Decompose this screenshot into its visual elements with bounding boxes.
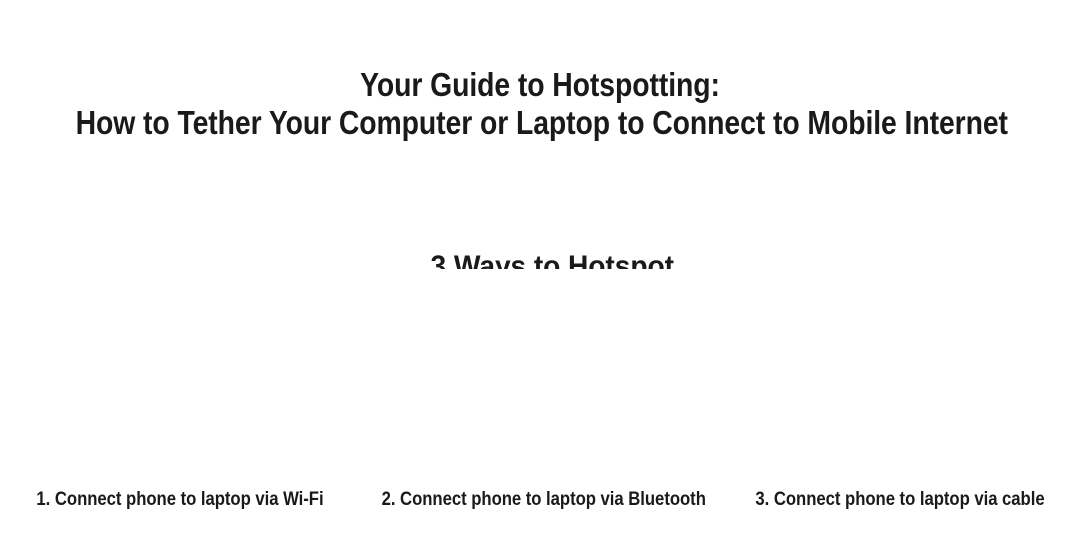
page-title-line-1: Your Guide to Hotspotting: (76, 66, 1005, 104)
article-page: Your Guide to Hotspotting: How to Tether… (0, 0, 1080, 552)
method-figure-2 (400, 269, 680, 469)
method-illustrations (0, 285, 1080, 485)
method-caption-1: 1. Connect phone to laptop via Wi-Fi (22, 488, 339, 512)
page-title: Your Guide to Hotspotting: How to Tether… (76, 66, 1005, 142)
phone-to-laptop-bluetooth-illustration (400, 269, 680, 469)
method-figure-3 (760, 269, 1040, 469)
phone-to-laptop-wifi-illustration (40, 269, 320, 469)
method-caption-3: 3. Connect phone to laptop via cable (742, 488, 1059, 512)
method-caption-2: 2. Connect phone to laptop via Bluetooth (382, 488, 699, 512)
page-title-line-2: How to Tether Your Computer or Laptop to… (76, 104, 1005, 142)
method-captions: 1. Connect phone to laptop via Wi-Fi 2. … (0, 488, 1080, 512)
method-figure-1 (40, 269, 320, 469)
phone-to-laptop-cable-illustration (760, 269, 1040, 469)
